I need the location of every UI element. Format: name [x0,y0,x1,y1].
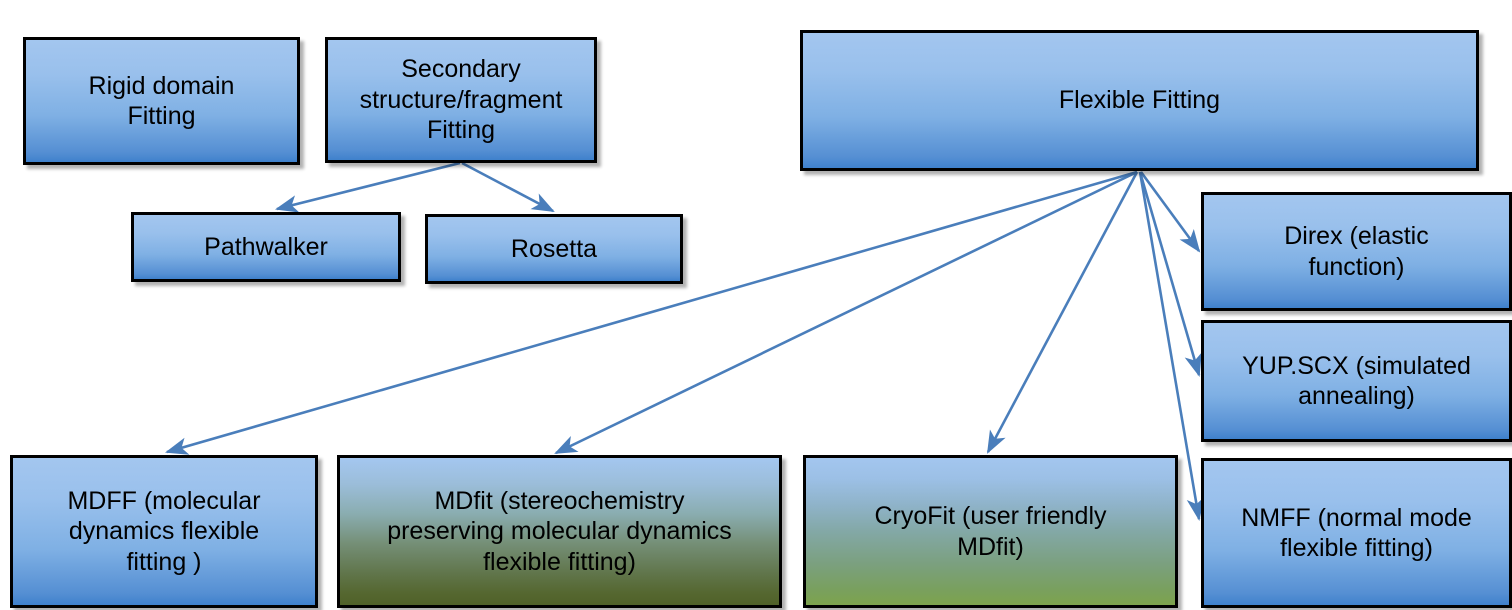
node-line: Direx (elastic [1212,221,1501,252]
node-rosetta-label: Rosetta [436,234,672,265]
node-line: annealing) [1212,381,1501,412]
diagram-canvas: Rigid domainFitting Secondarystructure/f… [0,0,1512,610]
node-line: MDfit (stereochemistry [348,486,771,517]
node-line: YUP.SCX (simulated [1212,351,1501,382]
node-line: flexible fitting) [1212,533,1501,564]
node-yup-scx-label: YUP.SCX (simulatedannealing) [1212,351,1501,412]
node-line: MDFF (molecular [21,486,307,517]
node-direx[interactable]: Direx (elasticfunction) [1201,192,1512,311]
node-pathwalker[interactable]: Pathwalker [131,212,401,282]
node-line: Rigid domain [34,71,289,102]
node-line: Fitting [336,115,586,146]
node-pathwalker-label: Pathwalker [142,232,390,263]
node-nmff[interactable]: NMFF (normal modeflexible fitting) [1201,458,1512,608]
node-line: structure/fragment [336,85,586,116]
node-line: CryoFit (user friendly [814,501,1167,532]
node-line: MDfit) [814,532,1167,563]
edge-flexible-to-yupscx [1140,172,1199,375]
node-flexible-fitting-label: Flexible Fitting [811,85,1468,116]
node-line: function) [1212,252,1501,283]
node-line: NMFF (normal mode [1212,503,1501,534]
node-rosetta[interactable]: Rosetta [425,214,683,284]
node-line: preserving molecular dynamics [348,516,771,547]
node-line: dynamics flexible [21,516,307,547]
node-flexible-fitting[interactable]: Flexible Fitting [800,30,1479,171]
node-line: Fitting [34,101,289,132]
node-yup-scx[interactable]: YUP.SCX (simulatedannealing) [1201,320,1512,442]
node-rigid-domain-fitting[interactable]: Rigid domainFitting [23,37,300,165]
node-mdfit[interactable]: MDfit (stereochemistrypreserving molecul… [337,455,782,608]
node-cryofit[interactable]: CryoFit (user friendlyMDfit) [803,455,1178,608]
edge-flexible-to-cryofit [988,172,1137,452]
node-rigid-domain-fitting-label: Rigid domainFitting [34,71,289,132]
node-secondary-structure-fitting-label: Secondarystructure/fragmentFitting [336,54,586,146]
node-line: flexible fitting) [348,547,771,578]
node-nmff-label: NMFF (normal modeflexible fitting) [1212,503,1501,564]
node-direx-label: Direx (elasticfunction) [1212,221,1501,282]
node-mdff[interactable]: MDFF (moleculardynamics flexiblefitting … [10,455,318,608]
node-mdfit-label: MDfit (stereochemistrypreserving molecul… [348,486,771,578]
edge-flexible-to-direx [1141,172,1199,251]
node-mdff-label: MDFF (moleculardynamics flexiblefitting … [21,486,307,578]
edge-secondary-to-pathwalker [277,163,460,209]
node-line: Secondary [336,54,586,85]
node-line: fitting ) [21,547,307,578]
edge-secondary-to-rosetta [462,163,553,211]
node-cryofit-label: CryoFit (user friendlyMDfit) [814,501,1167,562]
node-secondary-structure-fitting[interactable]: Secondarystructure/fragmentFitting [325,37,597,163]
